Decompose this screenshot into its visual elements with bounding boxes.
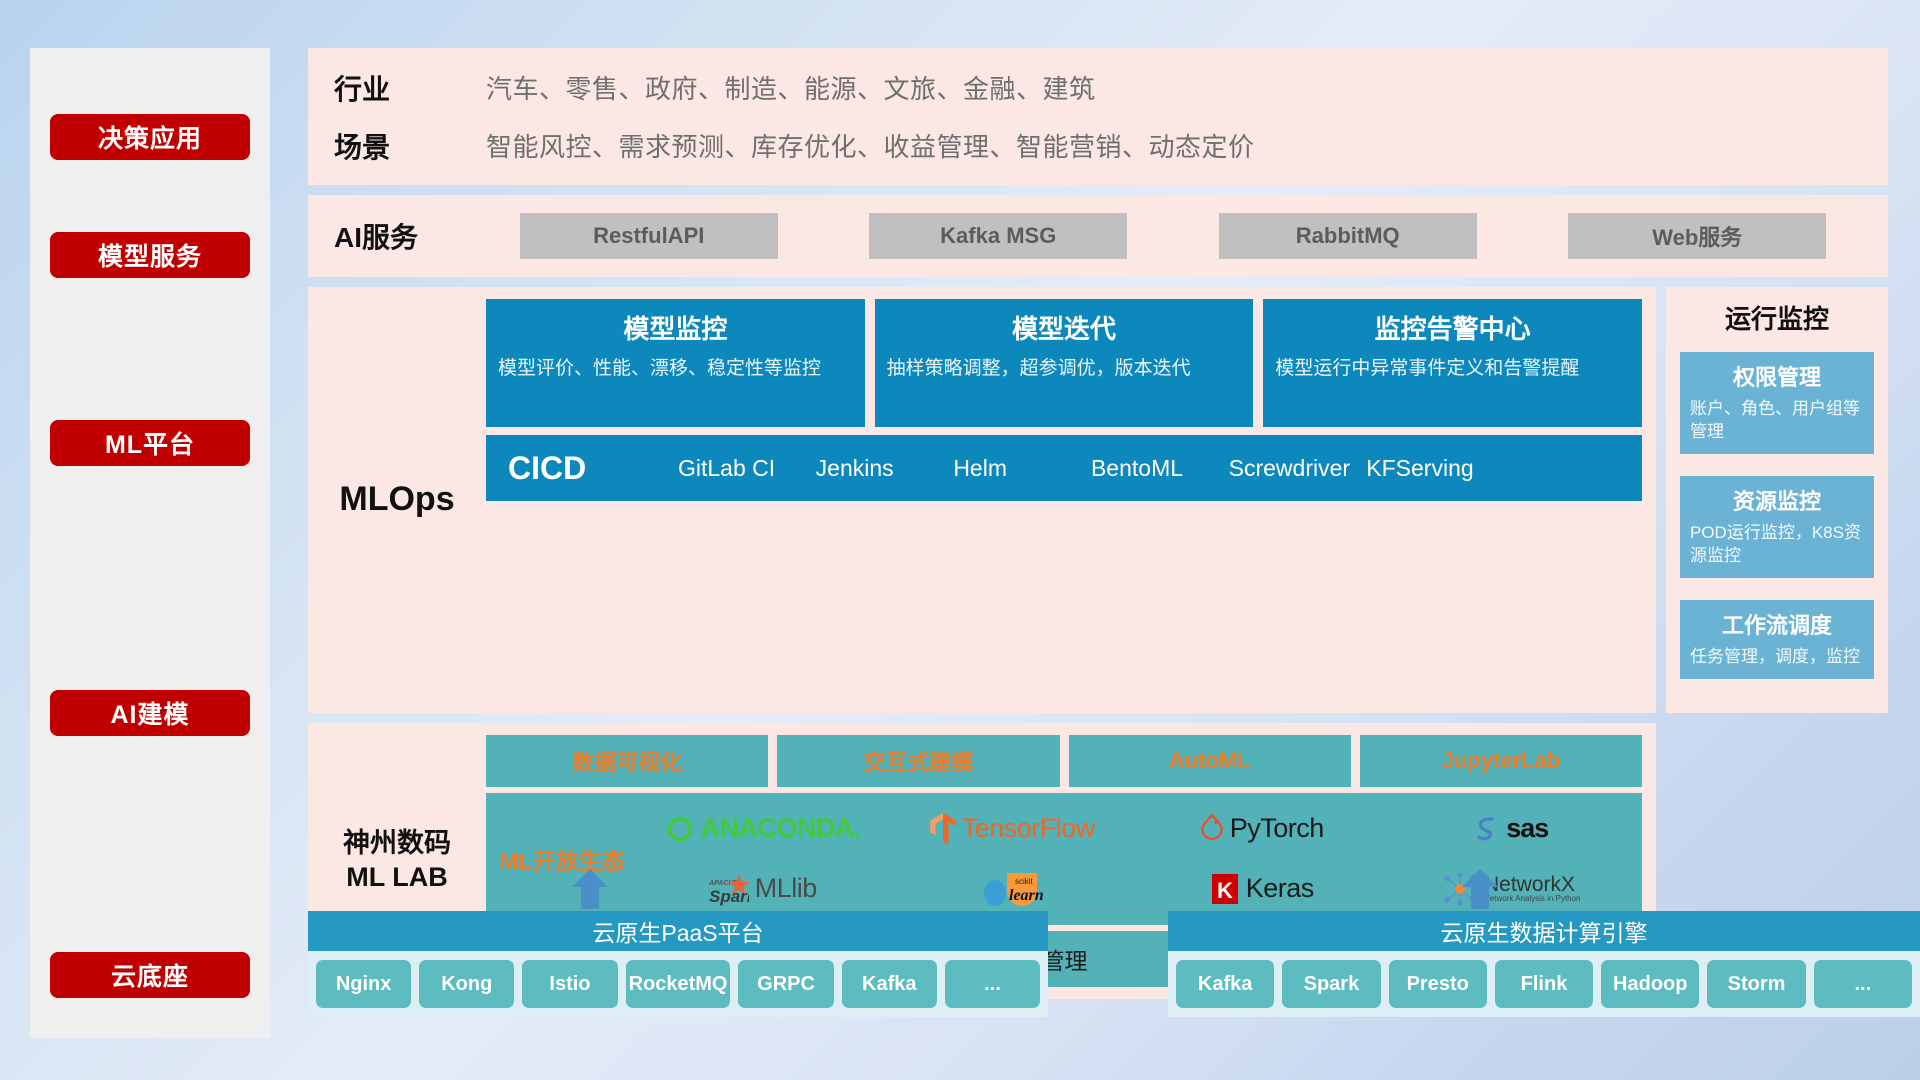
ai-service-button-label: RabbitMQ <box>1296 223 1400 249</box>
industry-values: 汽车、零售、政府、制造、能源、文旅、金融、建筑 <box>486 69 1096 106</box>
svg-text:scikit: scikit <box>1015 877 1034 886</box>
card-title: 工作流调度 <box>1690 608 1864 640</box>
pytorch-icon <box>1200 814 1224 844</box>
logo-sas: sas <box>1387 799 1637 859</box>
logo-tensorflow: TensorFlow <box>888 799 1138 859</box>
card-desc: 模型运行中异常事件定义和告警提醒 <box>1275 356 1630 382</box>
card-desc: 抽样策略调整，超参调优，版本迭代 <box>887 356 1242 382</box>
tensorflow-icon <box>930 813 956 845</box>
ml-lab-label-line1: 神州数码 <box>343 827 451 861</box>
ai-service-web[interactable]: Web服务 <box>1568 213 1826 259</box>
lab-tab-jupyterlab[interactable]: JupyterLab <box>1360 735 1642 787</box>
mlops-card-model-iteration[interactable]: 模型迭代 抽样策略调整，超参调优，版本迭代 <box>875 299 1254 427</box>
cloud-paas-group: 云原生PaaS平台 Nginx Kong Istio RocketMQ GRPC… <box>308 911 1048 1017</box>
mlops-row: MLOps 模型监控 模型评价、性能、漂移、稳定性等监控 模型迭代 抽样策略调整… <box>308 287 1888 713</box>
industry-row: 行业 汽车、零售、政府、制造、能源、文旅、金融、建筑 <box>334 68 1888 108</box>
rail-item-label: 决策应用 <box>98 119 202 155</box>
chip-istio[interactable]: Istio <box>522 960 617 1008</box>
chip-rocketmq[interactable]: RocketMQ <box>626 960 731 1008</box>
ai-service-button-label: Web服务 <box>1652 220 1742 252</box>
chip-kong[interactable]: Kong <box>419 960 514 1008</box>
cicd-item-jenkins[interactable]: Jenkins <box>816 457 954 480</box>
ai-service-band: AI服务 RestfulAPI Kafka MSG RabbitMQ Web服务 <box>308 195 1888 277</box>
chip-storm[interactable]: Storm <box>1707 960 1805 1008</box>
ai-service-button-label: Kafka MSG <box>940 223 1056 249</box>
card-desc: 模型评价、性能、漂移、稳定性等监控 <box>498 356 853 382</box>
card-title: 权限管理 <box>1690 360 1864 392</box>
mlops-card-model-monitoring[interactable]: 模型监控 模型评价、性能、漂移、稳定性等监控 <box>486 299 865 427</box>
ai-service-kafka-msg[interactable]: Kafka MSG <box>869 213 1127 259</box>
lab-tab-automl[interactable]: AutoML <box>1069 735 1351 787</box>
lab-tab-interactive-modeling[interactable]: 交互式建模 <box>777 735 1059 787</box>
logo-label: PyTorch <box>1230 813 1324 844</box>
card-desc: 账户、角色、用户组等管理 <box>1690 398 1864 444</box>
cicd-item-kfserving[interactable]: KFServing <box>1366 457 1504 480</box>
scenario-values: 智能风控、需求预测、库存优化、收益管理、智能营销、动态定价 <box>486 127 1255 164</box>
ai-service-rabbitmq[interactable]: RabbitMQ <box>1219 213 1477 259</box>
scenario-row: 场景 智能风控、需求预测、库存优化、收益管理、智能营销、动态定价 <box>334 126 1888 166</box>
logo-pytorch: PyTorch <box>1137 799 1387 859</box>
cicd-item-gitlab-ci[interactable]: GitLab CI <box>678 457 816 480</box>
rail-item-label: 云底座 <box>111 957 189 993</box>
chip-more[interactable]: ... <box>945 960 1040 1008</box>
cicd-title: CICD <box>508 450 678 487</box>
mlops-band: MLOps 模型监控 模型评价、性能、漂移、稳定性等监控 模型迭代 抽样策略调整… <box>308 287 1656 713</box>
card-desc: POD运行监控，K8S资源监控 <box>1690 522 1864 568</box>
ai-service-label: AI服务 <box>334 216 474 256</box>
chip-grpc[interactable]: GRPC <box>738 960 833 1008</box>
up-arrow-icon-right <box>1460 869 1500 909</box>
cicd-item-screwdriver[interactable]: Screwdriver <box>1229 457 1367 480</box>
rail-item-decision-app[interactable]: 决策应用 <box>50 114 250 160</box>
card-desc: 任务管理，调度，监控 <box>1690 646 1864 669</box>
up-arrow-icon-left <box>570 869 610 909</box>
monitor-card-permission[interactable]: 权限管理 账户、角色、用户组等管理 <box>1680 352 1874 454</box>
ml-lab-label-line2: ML LAB <box>346 861 448 895</box>
logo-label: ANACONDA. <box>701 813 862 844</box>
anaconda-icon <box>665 814 695 844</box>
cloud-data-engine-group: 云原生数据计算引擎 Kafka Spark Presto Flink Hadoo… <box>1168 911 1920 1017</box>
logo-label: sas <box>1506 813 1548 844</box>
chip-spark[interactable]: Spark <box>1282 960 1380 1008</box>
ai-service-button-label: RestfulAPI <box>593 223 704 249</box>
monitor-card-workflow[interactable]: 工作流调度 任务管理，调度，监控 <box>1680 600 1874 679</box>
rail-item-label: 模型服务 <box>98 237 202 273</box>
cicd-item-bentoml[interactable]: BentoML <box>1091 457 1229 480</box>
scenario-label: 场景 <box>334 126 486 166</box>
rail-item-model-service[interactable]: 模型服务 <box>50 232 250 278</box>
logo-anaconda: ANACONDA. <box>638 799 888 859</box>
chip-more[interactable]: ... <box>1814 960 1912 1008</box>
chip-flink[interactable]: Flink <box>1495 960 1593 1008</box>
chip-nginx[interactable]: Nginx <box>316 960 411 1008</box>
chip-kafka[interactable]: Kafka <box>842 960 937 1008</box>
rail-item-ai-modeling[interactable]: AI建模 <box>50 690 250 736</box>
card-title: 模型监控 <box>498 309 853 346</box>
cloud-data-engine-title: 云原生数据计算引擎 <box>1168 911 1920 951</box>
mlops-card-alert-center[interactable]: 监控告警中心 模型运行中异常事件定义和告警提醒 <box>1263 299 1642 427</box>
industry-label: 行业 <box>334 68 486 108</box>
industry-scenario-band: 行业 汽车、零售、政府、制造、能源、文旅、金融、建筑 场景 智能风控、需求预测、… <box>308 48 1888 185</box>
rail-item-label: ML平台 <box>105 425 195 461</box>
main-stack: 行业 汽车、零售、政府、制造、能源、文旅、金融、建筑 场景 智能风控、需求预测、… <box>308 48 1888 999</box>
rail-item-cloud-base[interactable]: 云底座 <box>50 952 250 998</box>
chip-hadoop[interactable]: Hadoop <box>1601 960 1699 1008</box>
ai-service-restfulapi[interactable]: RestfulAPI <box>520 213 778 259</box>
card-title: 监控告警中心 <box>1275 309 1630 346</box>
runtime-monitor-panel: 运行监控 权限管理 账户、角色、用户组等管理 资源监控 POD运行监控，K8S资… <box>1666 287 1888 713</box>
chip-kafka[interactable]: Kafka <box>1176 960 1274 1008</box>
runtime-monitor-title: 运行监控 <box>1680 299 1874 336</box>
card-title: 资源监控 <box>1690 484 1864 516</box>
card-title: 模型迭代 <box>887 309 1242 346</box>
lab-tab-data-visualization[interactable]: 数据可视化 <box>486 735 768 787</box>
left-rail: 决策应用 模型服务 ML平台 AI建模 云底座 <box>30 48 270 1038</box>
rail-item-label: AI建模 <box>110 695 189 731</box>
ml-open-ecosystem-label: ML开放生态 <box>486 842 638 876</box>
cloud-paas-title: 云原生PaaS平台 <box>308 911 1048 951</box>
logo-label: TensorFlow <box>962 813 1095 844</box>
cloud-foundation-row: 云原生PaaS平台 Nginx Kong Istio RocketMQ GRPC… <box>308 895 1920 1045</box>
chip-presto[interactable]: Presto <box>1389 960 1487 1008</box>
sas-icon <box>1474 815 1500 843</box>
cicd-item-helm[interactable]: Helm <box>953 457 1091 480</box>
rail-item-ml-platform[interactable]: ML平台 <box>50 420 250 466</box>
mlops-label: MLOps <box>308 299 486 701</box>
cicd-bar: CICD GitLab CI Jenkins Helm BentoML Scre… <box>486 435 1642 501</box>
monitor-card-resource[interactable]: 资源监控 POD运行监控，K8S资源监控 <box>1680 476 1874 578</box>
